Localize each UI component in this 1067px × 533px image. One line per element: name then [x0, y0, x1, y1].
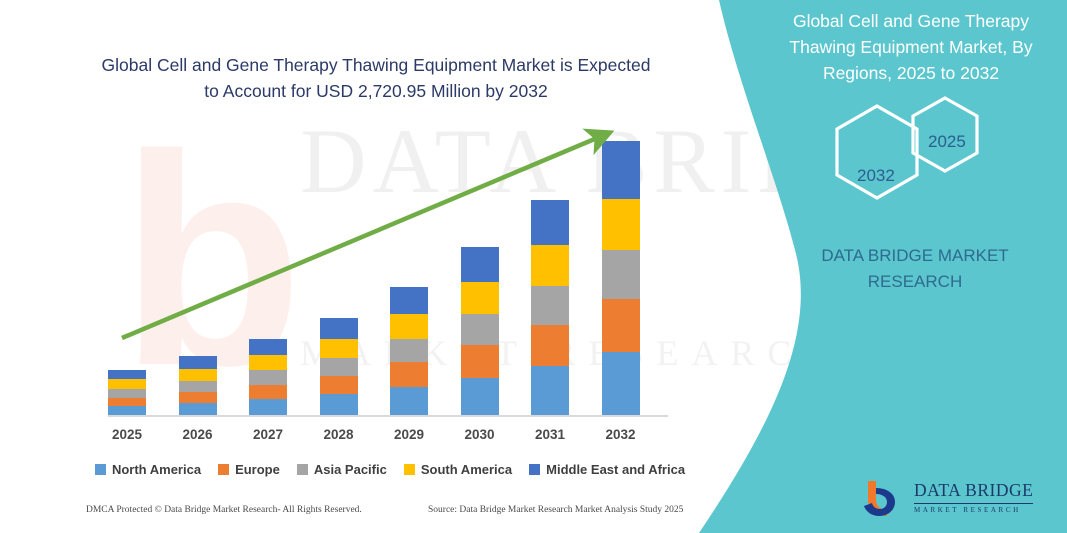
bar-2025 — [108, 370, 146, 416]
hexagon-2032-label: 2032 — [857, 166, 895, 186]
data-bridge-logo: DATA BRIDGE MARKET RESEARCH — [862, 476, 1042, 520]
chart-title: Global Cell and Gene Therapy Thawing Equ… — [96, 52, 656, 104]
logo-text-main: DATA BRIDGE — [914, 482, 1033, 500]
bar-segment-2031-north-america — [531, 366, 569, 416]
legend-label: South America — [421, 462, 512, 477]
legend-swatch-icon — [95, 464, 106, 475]
x-axis-label-2026: 2026 — [168, 427, 228, 442]
legend-item-asia-pacific[interactable]: Asia Pacific — [297, 462, 387, 477]
bar-2028 — [320, 318, 358, 416]
legend-item-europe[interactable]: Europe — [218, 462, 280, 477]
bar-segment-2027-north-america — [249, 399, 287, 416]
legend-item-middle-east-and-africa[interactable]: Middle East and Africa — [529, 462, 685, 477]
bar-segment-2028-middle-east-and-africa — [320, 318, 358, 339]
bar-segment-2031-europe — [531, 325, 569, 367]
x-axis-labels: 20252026202720282029203020312032 — [90, 427, 690, 449]
bar-segment-2029-asia-pacific — [390, 339, 428, 363]
legend-item-north-america[interactable]: North America — [95, 462, 201, 477]
bar-segment-2028-asia-pacific — [320, 358, 358, 376]
bar-segment-2026-europe — [179, 392, 217, 403]
bar-segment-2029-europe — [390, 362, 428, 387]
bar-segment-2031-south-america — [531, 245, 569, 286]
bar-segment-2025-south-america — [108, 379, 146, 389]
legend-swatch-icon — [218, 464, 229, 475]
bar-2032 — [602, 141, 640, 416]
bar-segment-2028-south-america — [320, 339, 358, 358]
legend-swatch-icon — [297, 464, 308, 475]
bar-segment-2032-europe — [602, 299, 640, 352]
footer-source: Source: Data Bridge Market Research Mark… — [428, 505, 683, 515]
bar-segment-2029-middle-east-and-africa — [390, 287, 428, 314]
bar-2030 — [461, 247, 499, 416]
x-axis-label-2029: 2029 — [379, 427, 439, 442]
x-axis-label-2028: 2028 — [309, 427, 369, 442]
x-axis-label-2030: 2030 — [450, 427, 510, 442]
logo-text-sub: MARKET RESEARCH — [914, 507, 1033, 514]
chart-legend: North AmericaEuropeAsia PacificSouth Ame… — [100, 458, 680, 480]
bar-segment-2028-europe — [320, 376, 358, 394]
bar-segment-2025-middle-east-and-africa — [108, 370, 146, 380]
bar-segment-2027-south-america — [249, 355, 287, 370]
logo-divider — [914, 503, 1033, 504]
x-axis-label-2025: 2025 — [97, 427, 157, 442]
logo-text: DATA BRIDGE MARKET RESEARCH — [914, 482, 1033, 514]
legend-item-south-america[interactable]: South America — [404, 462, 512, 477]
bar-segment-2031-middle-east-and-africa — [531, 200, 569, 245]
bar-segment-2029-south-america — [390, 314, 428, 339]
logo-mark-icon — [862, 478, 906, 518]
stacked-bar-chart — [90, 120, 690, 416]
bar-segment-2026-middle-east-and-africa — [179, 356, 217, 369]
x-axis-label-2032: 2032 — [591, 427, 651, 442]
bar-segment-2029-north-america — [390, 387, 428, 416]
side-panel-brand-text: DATA BRIDGE MARKET RESEARCH — [790, 243, 1040, 295]
bar-segment-2032-north-america — [602, 352, 640, 416]
bar-segment-2025-europe — [108, 398, 146, 407]
x-axis-label-2027: 2027 — [238, 427, 298, 442]
bar-2026 — [179, 356, 217, 416]
bar-segment-2032-middle-east-and-africa — [602, 141, 640, 199]
bar-segment-2026-asia-pacific — [179, 381, 217, 392]
legend-label: North America — [112, 462, 201, 477]
legend-swatch-icon — [529, 464, 540, 475]
bar-segment-2030-north-america — [461, 378, 499, 416]
hexagon-2025-label: 2025 — [928, 132, 966, 152]
bar-2027 — [249, 339, 287, 416]
hexagon-badges: 2025 2032 — [820, 96, 1020, 216]
footer-copyright: DMCA Protected © Data Bridge Market Rese… — [86, 505, 362, 515]
bar-segment-2030-europe — [461, 345, 499, 378]
legend-label: Europe — [235, 462, 280, 477]
bar-segment-2028-north-america — [320, 394, 358, 416]
footer: DMCA Protected © Data Bridge Market Rese… — [0, 505, 700, 525]
bar-segment-2026-south-america — [179, 369, 217, 381]
bar-segment-2030-middle-east-and-africa — [461, 247, 499, 282]
bar-segment-2032-south-america — [602, 199, 640, 250]
bar-segment-2031-asia-pacific — [531, 286, 569, 325]
infographic-root: b DATA BRIDGE MARKET RESEARCH Global Cel… — [0, 0, 1067, 533]
bar-2029 — [390, 287, 428, 417]
legend-label: Middle East and Africa — [546, 462, 685, 477]
bar-segment-2025-asia-pacific — [108, 389, 146, 398]
bar-segment-2027-europe — [249, 385, 287, 399]
bar-segment-2032-asia-pacific — [602, 250, 640, 300]
bar-segment-2027-asia-pacific — [249, 370, 287, 384]
legend-label: Asia Pacific — [314, 462, 387, 477]
side-panel-title: Global Cell and Gene Therapy Thawing Equ… — [772, 8, 1050, 86]
legend-swatch-icon — [404, 464, 415, 475]
bar-segment-2030-south-america — [461, 282, 499, 314]
bar-segment-2030-asia-pacific — [461, 314, 499, 345]
x-axis-line — [108, 415, 668, 417]
bar-2031 — [531, 200, 569, 416]
x-axis-label-2031: 2031 — [520, 427, 580, 442]
bar-segment-2027-middle-east-and-africa — [249, 339, 287, 355]
